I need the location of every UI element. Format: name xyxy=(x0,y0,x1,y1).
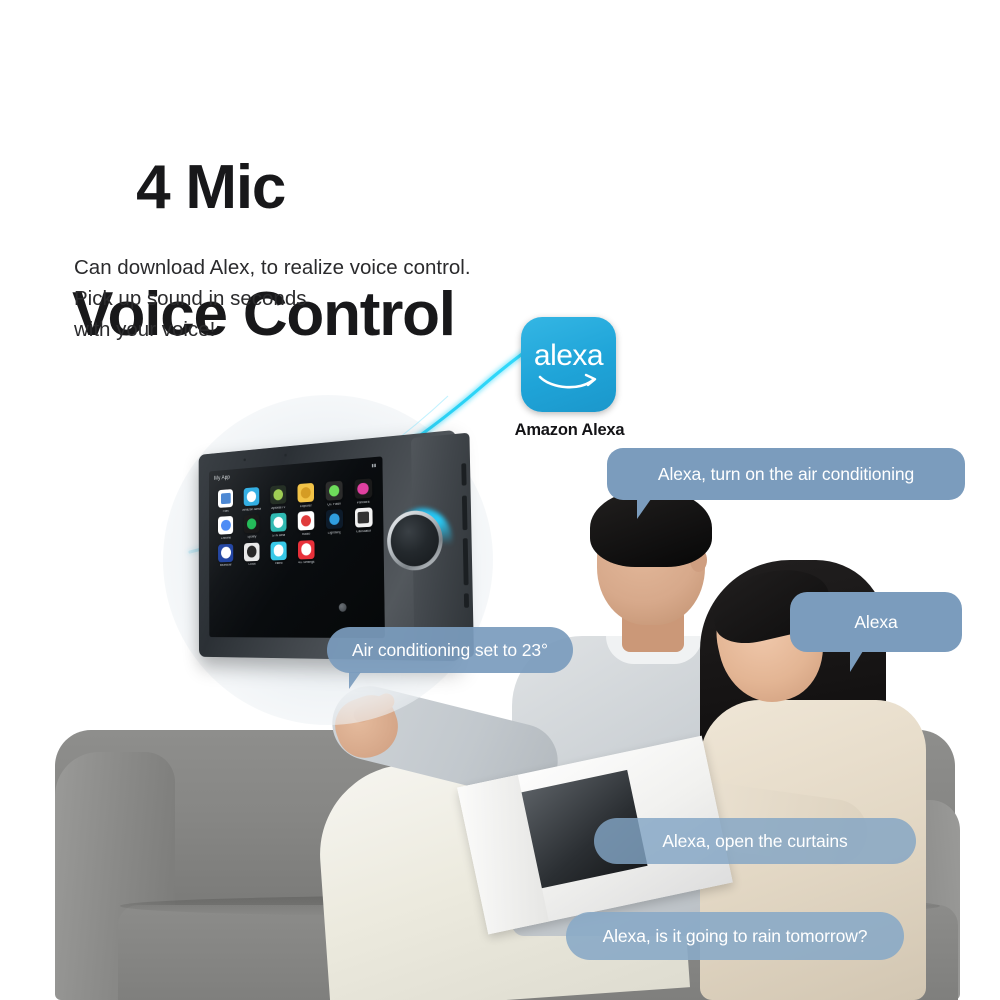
spotify-icon xyxy=(244,515,260,534)
stn-beta-icon xyxy=(270,513,286,532)
lightning-icon xyxy=(326,509,343,529)
app-label: Amazon Alexa xyxy=(242,507,261,512)
subcopy-line-2: Pick up sound in seconds xyxy=(74,283,471,314)
bubble-tail xyxy=(637,499,667,519)
speech-bubble-rain-tomorrow: Alexa, is it going to rain tomorrow? xyxy=(566,912,904,960)
device-port xyxy=(463,538,469,585)
alexa-smile-arrow-icon xyxy=(538,372,600,392)
app-label: QC Flash xyxy=(327,502,341,506)
screen-app-title: My App xyxy=(214,475,230,482)
app-label: Lightning xyxy=(328,531,341,535)
app-radio[interactable]: Radio xyxy=(292,511,319,537)
app-label: STN Beta xyxy=(272,534,285,538)
volume-knob[interactable] xyxy=(387,509,445,573)
bluetooth-icon xyxy=(218,543,233,562)
chrome-icon xyxy=(218,516,233,535)
app-label: AptoideTV xyxy=(271,506,285,510)
clock-icon xyxy=(244,542,260,561)
amazon-alexa-caption: Amazon Alexa xyxy=(497,421,642,440)
speech-bubble-ac-set-23: Air conditioning set to 23° xyxy=(327,627,573,673)
wifi-icon: ▮▮ xyxy=(372,463,377,469)
app-label: Pandora xyxy=(357,500,370,504)
app-explorer[interactable]: Explorer xyxy=(292,482,319,508)
app-label: Bluetooth xyxy=(220,564,232,568)
amazon-alexa-icon xyxy=(244,487,260,506)
subcopy-line-1: Can download Alex, to realize voice cont… xyxy=(74,252,471,283)
app-clock[interactable]: Clock xyxy=(239,542,265,567)
4g-settings-icon xyxy=(298,540,315,559)
app-label: Radio xyxy=(302,533,310,537)
files-icon xyxy=(218,489,233,508)
speech-bubble-open-curtains: Alexa, open the curtains xyxy=(594,818,916,864)
video-icon xyxy=(271,541,287,560)
app-chrome[interactable]: Chrome xyxy=(214,516,239,541)
bubble-tail xyxy=(349,672,375,689)
app-pandora[interactable]: Pandora xyxy=(349,478,378,505)
device-port xyxy=(462,495,468,530)
app-video[interactable]: Video xyxy=(266,541,292,566)
speech-bubble-turn-on-ac: Alexa, turn on the air conditioning xyxy=(607,448,965,500)
app-label: Files xyxy=(223,509,229,513)
app-label: Spotify xyxy=(247,535,256,539)
device-port xyxy=(464,593,469,607)
app-label: Chrome xyxy=(221,537,231,541)
app-4g-settings[interactable]: 4G Settings xyxy=(293,539,320,565)
bubble-text: Alexa, turn on the air conditioning xyxy=(658,464,914,485)
app-spotify[interactable]: Spotify xyxy=(239,514,265,539)
app-label: Clock xyxy=(248,563,255,567)
device-port xyxy=(461,463,466,486)
bubble-tail xyxy=(850,651,880,672)
radio-icon xyxy=(298,511,315,531)
app-calculator[interactable]: Calculator xyxy=(349,507,378,534)
amazon-alexa-logo[interactable]: alexa xyxy=(521,317,616,412)
app-label: 4G Settings xyxy=(298,561,314,565)
app-grid[interactable]: FilesAmazon AlexaAptoideTVExplorerQC Fla… xyxy=(213,478,378,568)
app-aptoidetv[interactable]: AptoideTV xyxy=(265,485,291,511)
calculator-icon xyxy=(355,508,373,528)
device-screen[interactable]: My App ▮▮ FilesAmazon AlexaAptoideTVExpl… xyxy=(209,456,385,638)
bubble-text: Alexa xyxy=(854,612,897,633)
qc-flash-icon xyxy=(325,481,342,501)
ir-sensor xyxy=(339,603,347,612)
app-label: Explorer xyxy=(300,504,312,508)
app-stn-beta[interactable]: STN Beta xyxy=(265,513,291,539)
pandora-icon xyxy=(354,478,372,498)
speech-bubble-alexa: Alexa xyxy=(790,592,962,652)
alexa-wordmark: alexa xyxy=(534,341,603,371)
app-qc-flash[interactable]: QC Flash xyxy=(320,480,348,507)
headline-line-1: 4 Mic xyxy=(136,153,285,222)
explorer-icon xyxy=(297,483,314,503)
marketing-banner: 4 Mic Voice Control Can download Alex, t… xyxy=(0,0,1000,1000)
bubble-text: Alexa, is it going to rain tomorrow? xyxy=(603,926,868,947)
app-amazon-alexa[interactable]: Amazon Alexa xyxy=(239,487,265,513)
bubble-text: Alexa, open the curtains xyxy=(662,831,847,852)
app-label: Calculator xyxy=(356,530,371,534)
app-lightning[interactable]: Lightning xyxy=(320,509,348,535)
app-files[interactable]: Files xyxy=(213,489,238,514)
aptoidetv-icon xyxy=(270,485,286,504)
app-bluetooth[interactable]: Bluetooth xyxy=(214,543,239,568)
bubble-text: Air conditioning set to 23° xyxy=(352,640,548,661)
app-label: Video xyxy=(275,562,283,566)
